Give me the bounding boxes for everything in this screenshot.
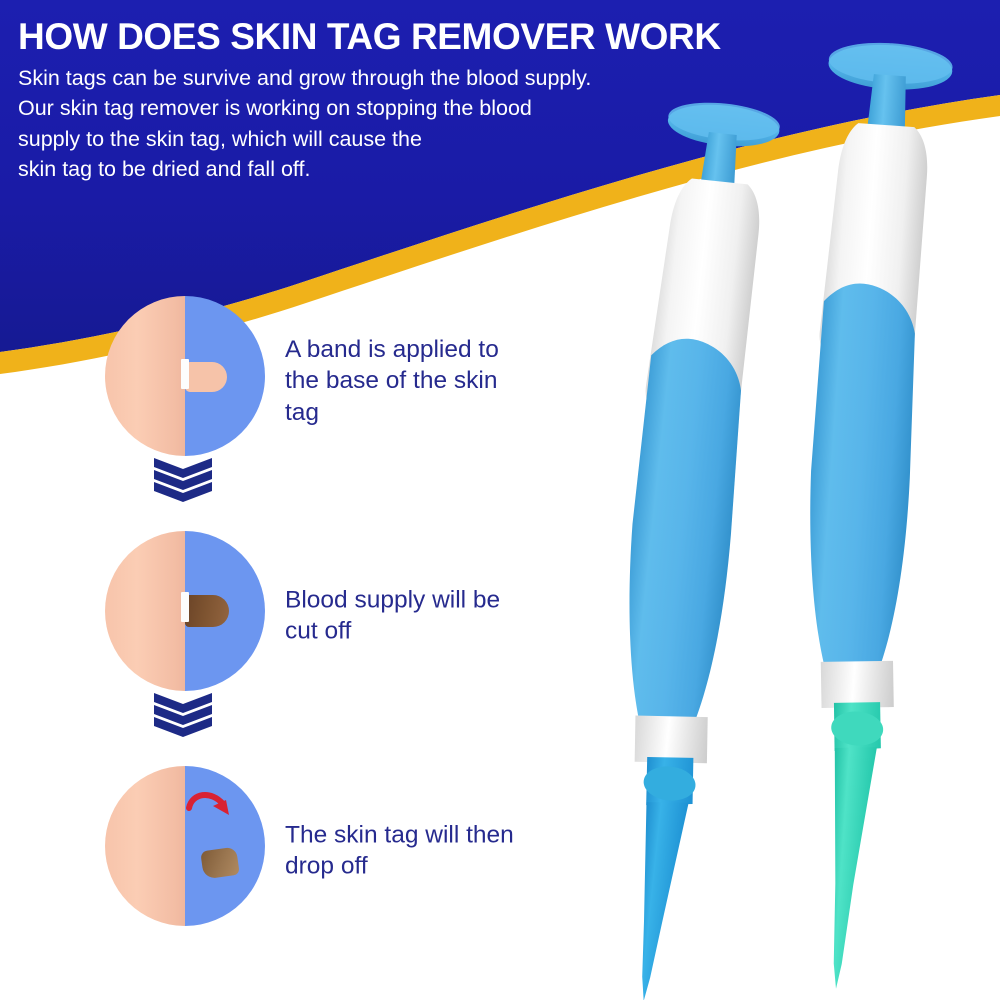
step-1-caption: A band is applied to the base of the ski… [285, 334, 535, 428]
device-collar [631, 710, 712, 770]
removal-band [181, 592, 189, 622]
chevron-down-icon [148, 456, 218, 502]
step-2: Blood supply will be cut off [0, 531, 560, 701]
device-barrel [642, 176, 763, 432]
device-barrel [817, 121, 930, 374]
nozzle-base [831, 699, 885, 754]
banner-body-line-4: skin tag to be dried and fall off. [18, 154, 808, 185]
product-infographic: HOW DOES SKIN TAG REMOVER WORK Skin tags… [0, 0, 1000, 1000]
banner-text-block: HOW DOES SKIN TAG REMOVER WORK Skin tags… [18, 18, 808, 185]
plunger-stem [867, 74, 909, 135]
device-collar [818, 656, 897, 713]
nozzle-tip [818, 744, 877, 990]
skin-tag-shape [185, 362, 227, 392]
skin-half [105, 531, 185, 691]
step-3: The skin tag will then drop off [0, 766, 560, 936]
step-3-illustration [105, 766, 265, 926]
banner-body-line-1: Skin tags can be survive and grow throug… [18, 63, 808, 94]
step-1-illustration [105, 296, 265, 456]
chevron-down-icon [148, 691, 218, 737]
process-steps: A band is applied to the base of the ski… [0, 296, 560, 936]
curved-arrow-icon [185, 788, 237, 832]
nozzle-base [642, 753, 697, 810]
plunger-cap [827, 41, 954, 94]
step-3-caption: The skin tag will then drop off [285, 820, 535, 883]
step-2-caption: Blood supply will be cut off [285, 585, 535, 648]
device-grip [609, 335, 751, 755]
step-1: A band is applied to the base of the ski… [0, 296, 560, 466]
device-grip [796, 281, 924, 699]
banner-body-line-2: Our skin tag remover is working on stopp… [18, 93, 808, 124]
applicator-left [576, 98, 782, 1000]
skin-half [105, 296, 185, 456]
page-title: HOW DOES SKIN TAG REMOVER WORK [18, 18, 808, 57]
banner-body-line-3: supply to the skin tag, which will cause… [18, 124, 808, 155]
nozzle-tip [626, 798, 689, 1000]
step-2-illustration [105, 531, 265, 691]
removal-band [181, 359, 189, 389]
detached-skin-tag-shape [200, 847, 240, 880]
skin-half [105, 766, 185, 926]
necrotic-skin-tag-shape [185, 595, 229, 627]
